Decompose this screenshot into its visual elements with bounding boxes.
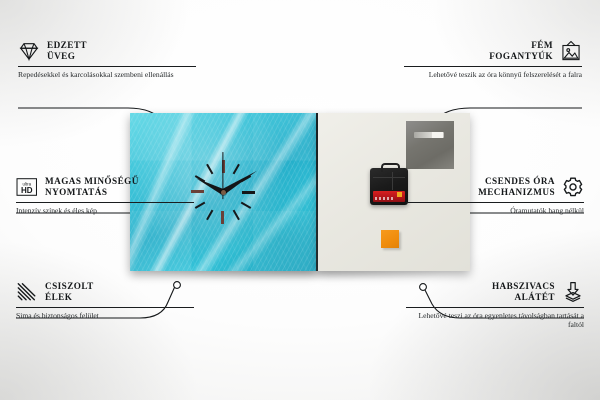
infographic-canvas: EDZETT ÜVEG Repedésekkel és karcolásokka… xyxy=(0,0,600,400)
feature-description: Lehetővé teszik az óra könnyű felszerelé… xyxy=(404,67,582,80)
feature-description: Lehetővé teszi az óra egyenletes távolsá… xyxy=(406,308,584,330)
feature-title-line2: MECHANIZMUS xyxy=(478,187,555,198)
hanger-slot xyxy=(414,132,444,138)
feature-foam-pad[interactable]: HABSZIVACS ALÁTÉT Lehetővé teszi az óra … xyxy=(406,281,584,330)
feature-title-line1: FÉM xyxy=(489,40,553,51)
feature-title-line2: NYOMTATÁS xyxy=(45,187,139,198)
feature-title-line1: CSENDES ÓRA xyxy=(478,176,555,187)
diamond-icon xyxy=(18,40,40,62)
mechanism-seam-vertical xyxy=(392,172,393,190)
clock-hub xyxy=(221,190,226,195)
mechanism-seam xyxy=(373,177,405,178)
feature-title-line1: HABSZIVACS xyxy=(492,281,555,292)
sanded-edge-icon xyxy=(16,281,38,303)
battery-label xyxy=(375,197,395,200)
foam-pad xyxy=(381,230,399,248)
feature-high-quality-print[interactable]: ultra HD MAGAS MINŐSÉGŰ NYOMTATÁS Intenz… xyxy=(16,176,194,215)
quartz-mechanism xyxy=(370,168,408,205)
feature-tempered-glass[interactable]: EDZETT ÜVEG Repedésekkel és karcolásokka… xyxy=(18,40,196,79)
feature-polished-edges[interactable]: CSISZOLT ÉLEK Sima és biztonságos felüle… xyxy=(16,281,194,320)
feature-description: Intenzív színek és éles kép xyxy=(16,203,194,216)
battery xyxy=(373,191,405,202)
gear-icon xyxy=(562,176,584,198)
picture-frame-hanger-icon xyxy=(560,40,582,62)
feature-title-line1: CSISZOLT xyxy=(45,281,94,292)
svg-text:HD: HD xyxy=(21,186,33,195)
feature-description: Sima és biztonságos felület xyxy=(16,308,194,321)
feature-description: Óramutatók hang nélkül xyxy=(406,203,584,216)
mechanism-lug xyxy=(381,163,400,172)
feature-title-line2: FOGANTYÚK xyxy=(489,51,553,62)
feature-title-line1: EDZETT xyxy=(47,40,87,51)
ultra-hd-icon: ultra HD xyxy=(16,176,38,198)
press-down-pad-icon xyxy=(562,281,584,303)
feature-metal-handles[interactable]: FÉM FOGANTYÚK Lehetővé teszik az óra kön… xyxy=(404,40,582,79)
feature-title-line2: ALÁTÉT xyxy=(492,292,555,303)
feature-title-line2: ÉLEK xyxy=(45,292,94,303)
metal-hanger-icon xyxy=(406,121,454,169)
feature-silent-mechanism[interactable]: CSENDES ÓRA MECHANIZMUS Óramutatók hang … xyxy=(406,176,584,215)
feature-title-line2: ÜVEG xyxy=(47,51,87,62)
feature-description: Repedésekkel és karcolásokkal szembeni e… xyxy=(18,67,196,80)
feature-title-line1: MAGAS MINŐSÉGŰ xyxy=(45,176,139,187)
